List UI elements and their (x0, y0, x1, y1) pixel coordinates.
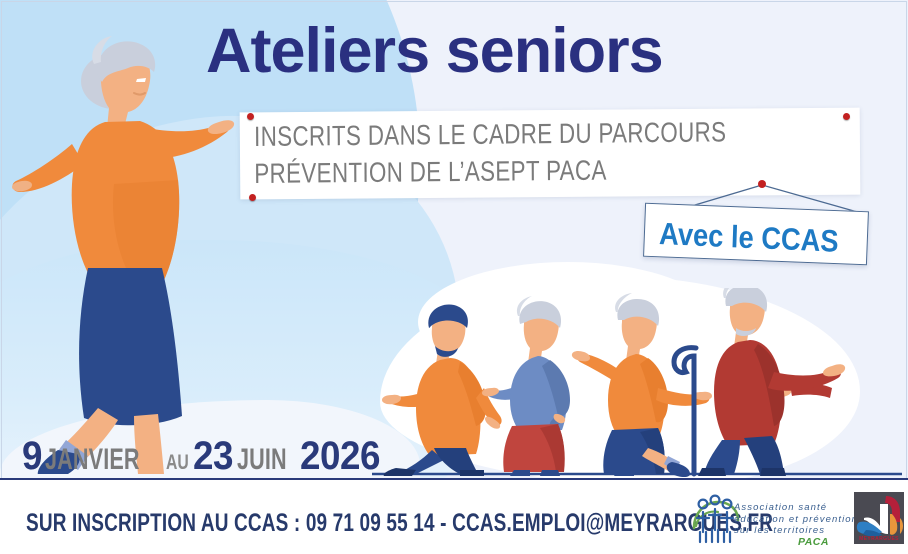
pin-icon-sign (758, 180, 766, 188)
page-title: Ateliers seniors (206, 18, 866, 84)
asept-logo-text: Association santé éducation et préventio… (734, 502, 858, 537)
hanging-sign: Avec le CCAS (630, 175, 880, 275)
date-connector: AU (166, 451, 189, 475)
info-note-line-1: INSCRITS DANS LE CADRE DU PARCOURS (254, 113, 734, 155)
asept-line-1: Association santé (734, 502, 858, 514)
pin-icon-top-right (843, 113, 850, 120)
pin-icon-top-left (247, 113, 254, 120)
date-end-day: 23 (193, 434, 233, 479)
footer-contact-text: SUR INSCRIPTION AU CCAS : 09 71 09 55 14… (26, 508, 773, 538)
date-year: 2026 (300, 434, 380, 479)
sign-label: Avec le CCAS (659, 212, 836, 264)
meyrargues-logo: MEYRARGUES (854, 492, 904, 544)
seniors-group-illustration (372, 288, 902, 480)
poster-canvas: Ateliers seniors INSCRITS DANS LE CADRE … (0, 0, 908, 554)
meyrargues-name-label: MEYRARGUES (854, 536, 904, 542)
asept-line-3: sur les territoires (734, 525, 858, 537)
pin-icon-bottom-left (249, 194, 256, 201)
senior-woman-illustration (6, 24, 256, 474)
date-range: 9JANVIERAU23JUIN2026 (22, 434, 387, 479)
asept-region-label: PACA (798, 536, 829, 548)
date-end-month: JUIN (237, 443, 287, 477)
asept-logo: Association santé éducation et préventio… (688, 492, 840, 548)
date-start-day: 9 (22, 434, 42, 479)
asept-line-2: éducation et prévention (734, 514, 858, 526)
date-start-month: JANVIER (45, 443, 140, 477)
